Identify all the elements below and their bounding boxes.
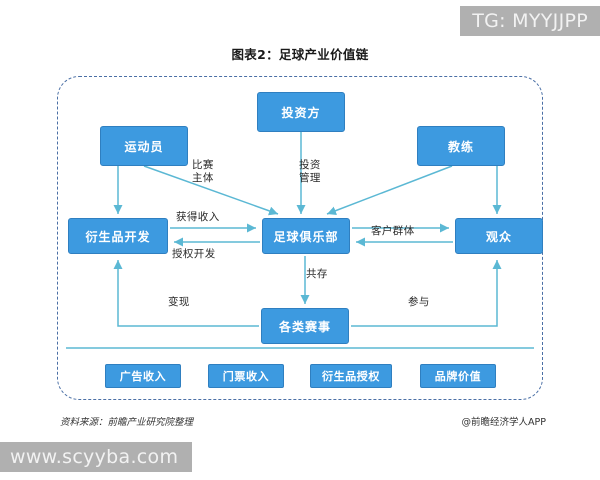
node-investor[interactable]: 投资方 [257,92,345,132]
node-brand-value[interactable]: 品牌价值 [420,364,496,388]
node-events[interactable]: 各类赛事 [261,308,349,344]
node-coach[interactable]: 教练 [417,126,505,166]
edge-label-invest-manage-line1: 投资 [299,159,321,172]
footer-brand: @前瞻经济学人APP [462,414,546,428]
watermark-bottom-banner: www.scyyba.com [0,442,192,472]
diagram-canvas: 投资方 运动员 教练 衍生品开发 足球俱乐部 观众 各类赛事 广告收入 门票收入… [0,0,600,480]
watermark-top-banner: TG: MYYJJPP [460,6,600,36]
node-derivative-license[interactable]: 衍生品授权 [310,364,392,388]
node-ad-revenue[interactable]: 广告收入 [105,364,181,388]
node-athlete[interactable]: 运动员 [100,126,188,166]
edge-label-customer-group: 客户群体 [371,225,415,238]
edge-label-invest-manage: 投资 管理 [299,159,321,185]
edge-label-invest-manage-line2: 管理 [299,172,321,185]
edge-label-coexist: 共存 [306,268,328,281]
edge-label-authorize-development: 授权开发 [172,248,216,261]
node-ticket-revenue[interactable]: 门票收入 [208,364,284,388]
node-football-club[interactable]: 足球俱乐部 [262,218,350,254]
edge-label-monetize: 变现 [168,296,190,309]
edge-label-participate: 参与 [408,296,430,309]
footer-source: 资料来源：前瞻产业研究院整理 [60,414,193,428]
edge-label-earn-income: 获得收入 [176,211,220,224]
edge-label-match-subject-line2: 主体 [192,172,214,185]
chart-title: 图表2：足球产业价值链 [0,44,600,63]
node-derivative-development[interactable]: 衍生品开发 [68,218,168,254]
edge-label-match-subject-line1: 比赛 [192,159,214,172]
node-audience[interactable]: 观众 [455,218,543,254]
edge-label-match-subject: 比赛 主体 [192,159,214,185]
